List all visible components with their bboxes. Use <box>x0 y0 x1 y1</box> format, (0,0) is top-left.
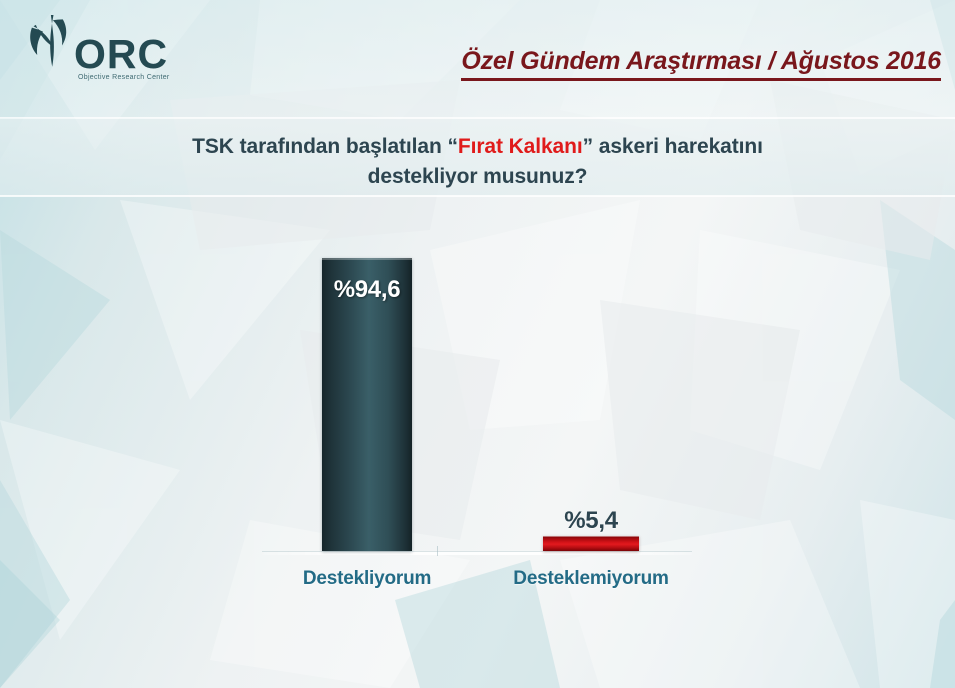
chart-baseline-tick <box>437 546 438 556</box>
slide-canvas: ORC Objective Research Center Özel Günde… <box>0 0 955 688</box>
quote-close: ” <box>583 135 593 158</box>
orc-logo-tagline: Objective Research Center <box>78 74 170 81</box>
orc-logo: ORC Objective Research Center <box>22 12 172 84</box>
question-text: TSK tarafından başlatılan “Fırat Kalkanı… <box>0 132 955 192</box>
bar-chart: %94,6 %5,4 Destekliyorum Desteklemiyorum <box>0 196 955 688</box>
bar-desteklemiyorum <box>543 536 639 551</box>
survey-title: Özel Gündem Araştırması / Ağustos 2016 <box>461 47 941 81</box>
orc-logo-text: ORC <box>74 34 168 75</box>
question-highlight: Fırat Kalkanı <box>458 135 583 158</box>
quote-open: “ <box>447 135 457 158</box>
question-part1: TSK tarafından başlatılan <box>192 135 447 158</box>
value-label-desteklemiyorum: %5,4 <box>531 507 651 535</box>
chart-baseline <box>262 551 692 555</box>
category-label-destekliyorum: Destekliyorum <box>277 568 457 590</box>
category-label-desteklemiyorum: Desteklemiyorum <box>481 568 701 590</box>
question-line2: destekliyor musunuz? <box>368 165 588 188</box>
value-label-destekliyorum: %94,6 <box>322 276 412 304</box>
question-part2: askeri harekatını <box>593 135 763 158</box>
